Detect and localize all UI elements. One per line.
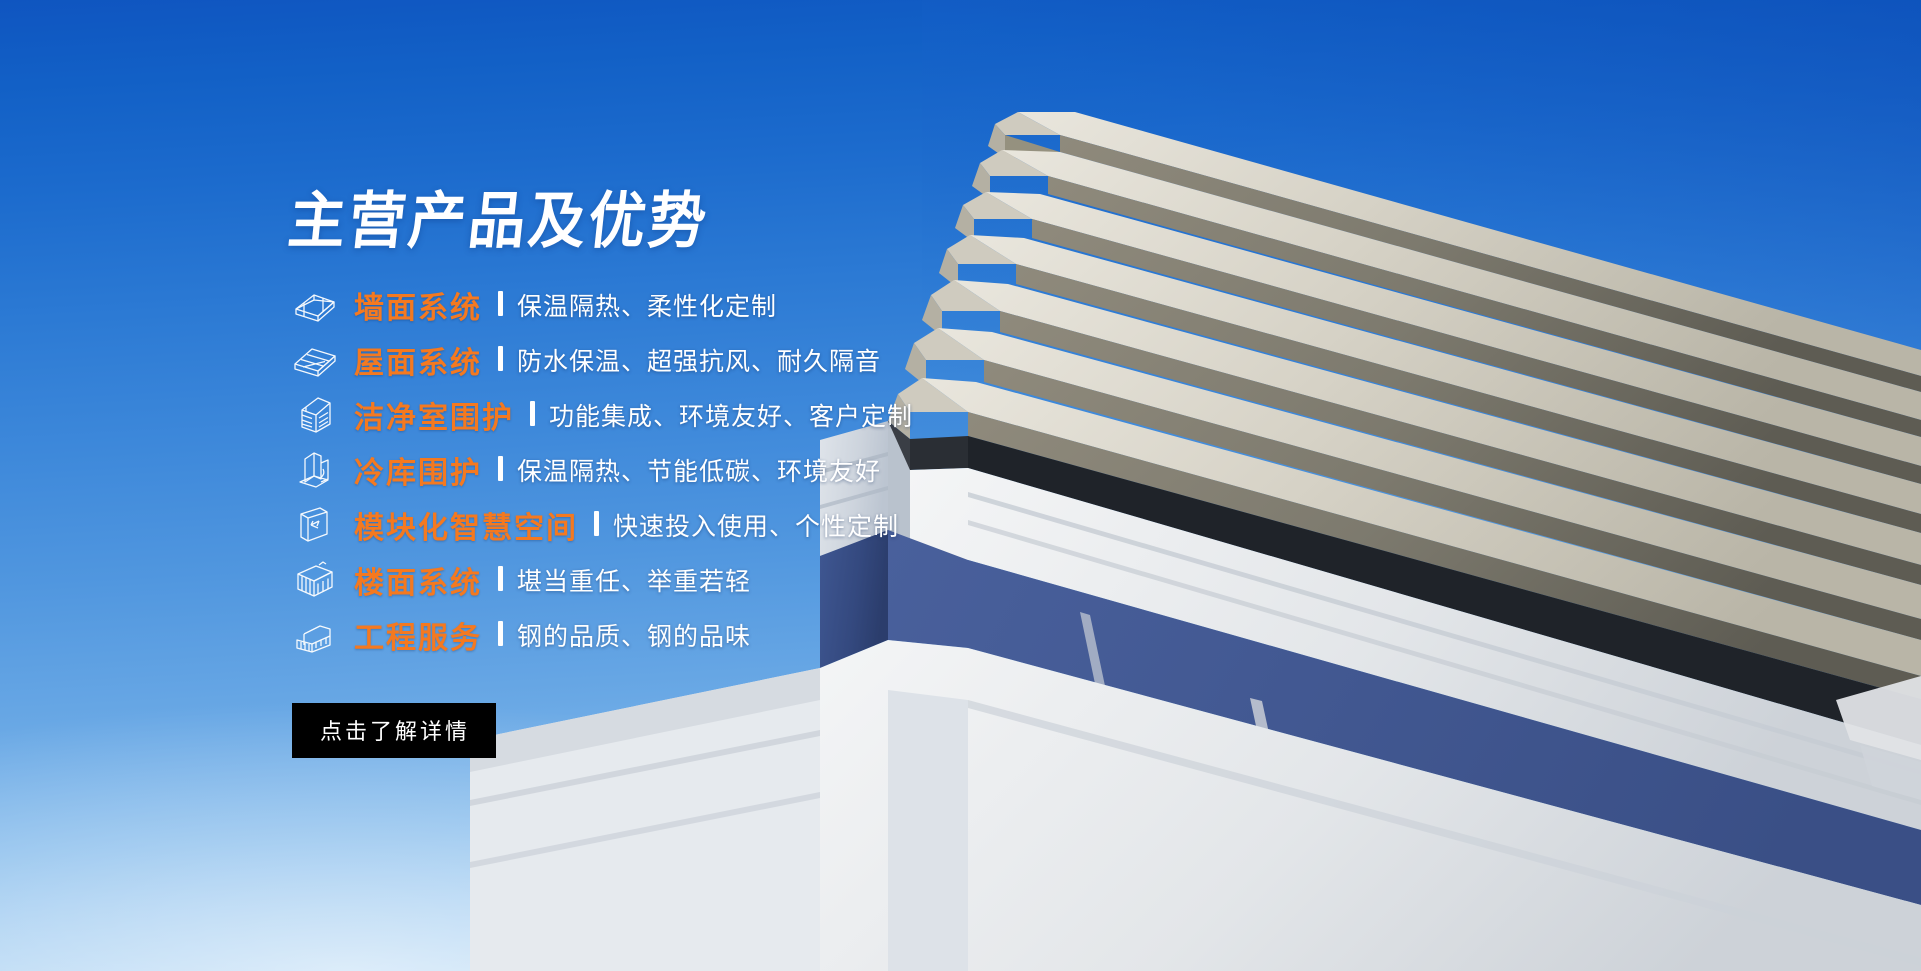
separator-bar [530,401,535,426]
cleanroom-building-wireframe-icon [292,394,344,436]
product-name: 墙面系统 [354,283,482,327]
modular-cube-wireframe-icon [292,504,344,546]
learn-more-button[interactable]: 点击了解详情 [292,703,496,758]
product-name: 洁净室围护 [354,393,514,437]
list-item[interactable]: 楼面系统 堪当重任、举重若轻 [292,553,1192,608]
list-item[interactable]: 工程服务 钢的品质、钢的品味 [292,608,1192,663]
list-item[interactable]: 屋面系统 防水保温、超强抗风、耐久隔音 [292,333,1192,388]
engineering-service-wireframe-icon [292,614,344,656]
product-name: 模块化智慧空间 [354,503,578,547]
separator-bar [498,621,503,646]
hero-banner: 主营产品及优势 墙面系统 保温隔热、柔性化定制 [0,0,1921,971]
separator-bar [498,456,503,481]
hero-content: 主营产品及优势 墙面系统 保温隔热、柔性化定制 [292,190,1192,758]
coldstorage-wireframe-icon [292,449,344,491]
product-desc: 功能集成、环境友好、客户定制 [549,397,913,433]
list-item[interactable]: 模块化智慧空间 快速投入使用、个性定制 [292,498,1192,553]
page-title: 主营产品及优势 [285,190,1192,255]
separator-bar [594,511,599,536]
separator-bar [498,291,503,316]
separator-bar [498,346,503,371]
product-name: 楼面系统 [354,558,482,602]
list-item[interactable]: 洁净室围护 功能集成、环境友好、客户定制 [292,388,1192,443]
product-name: 冷库围护 [354,448,482,492]
product-desc: 保温隔热、节能低碳、环境友好 [517,452,881,488]
product-desc: 保温隔热、柔性化定制 [517,287,777,323]
roof-panel-wireframe-icon [292,339,344,381]
product-list: 墙面系统 保温隔热、柔性化定制 屋面系统 防水保温、超强抗风、耐久隔音 [292,278,1192,663]
product-desc: 堪当重任、举重若轻 [517,562,751,598]
product-name: 工程服务 [354,613,482,657]
product-desc: 钢的品质、钢的品味 [517,617,751,653]
floor-deck-wireframe-icon [292,559,344,601]
product-desc: 快速投入使用、个性定制 [613,507,899,543]
list-item[interactable]: 墙面系统 保温隔热、柔性化定制 [292,278,1192,333]
list-item[interactable]: 冷库围护 保温隔热、节能低碳、环境友好 [292,443,1192,498]
product-desc: 防水保温、超强抗风、耐久隔音 [517,342,881,378]
wall-panel-wireframe-icon [292,284,344,326]
product-name: 屋面系统 [354,338,482,382]
separator-bar [498,566,503,591]
